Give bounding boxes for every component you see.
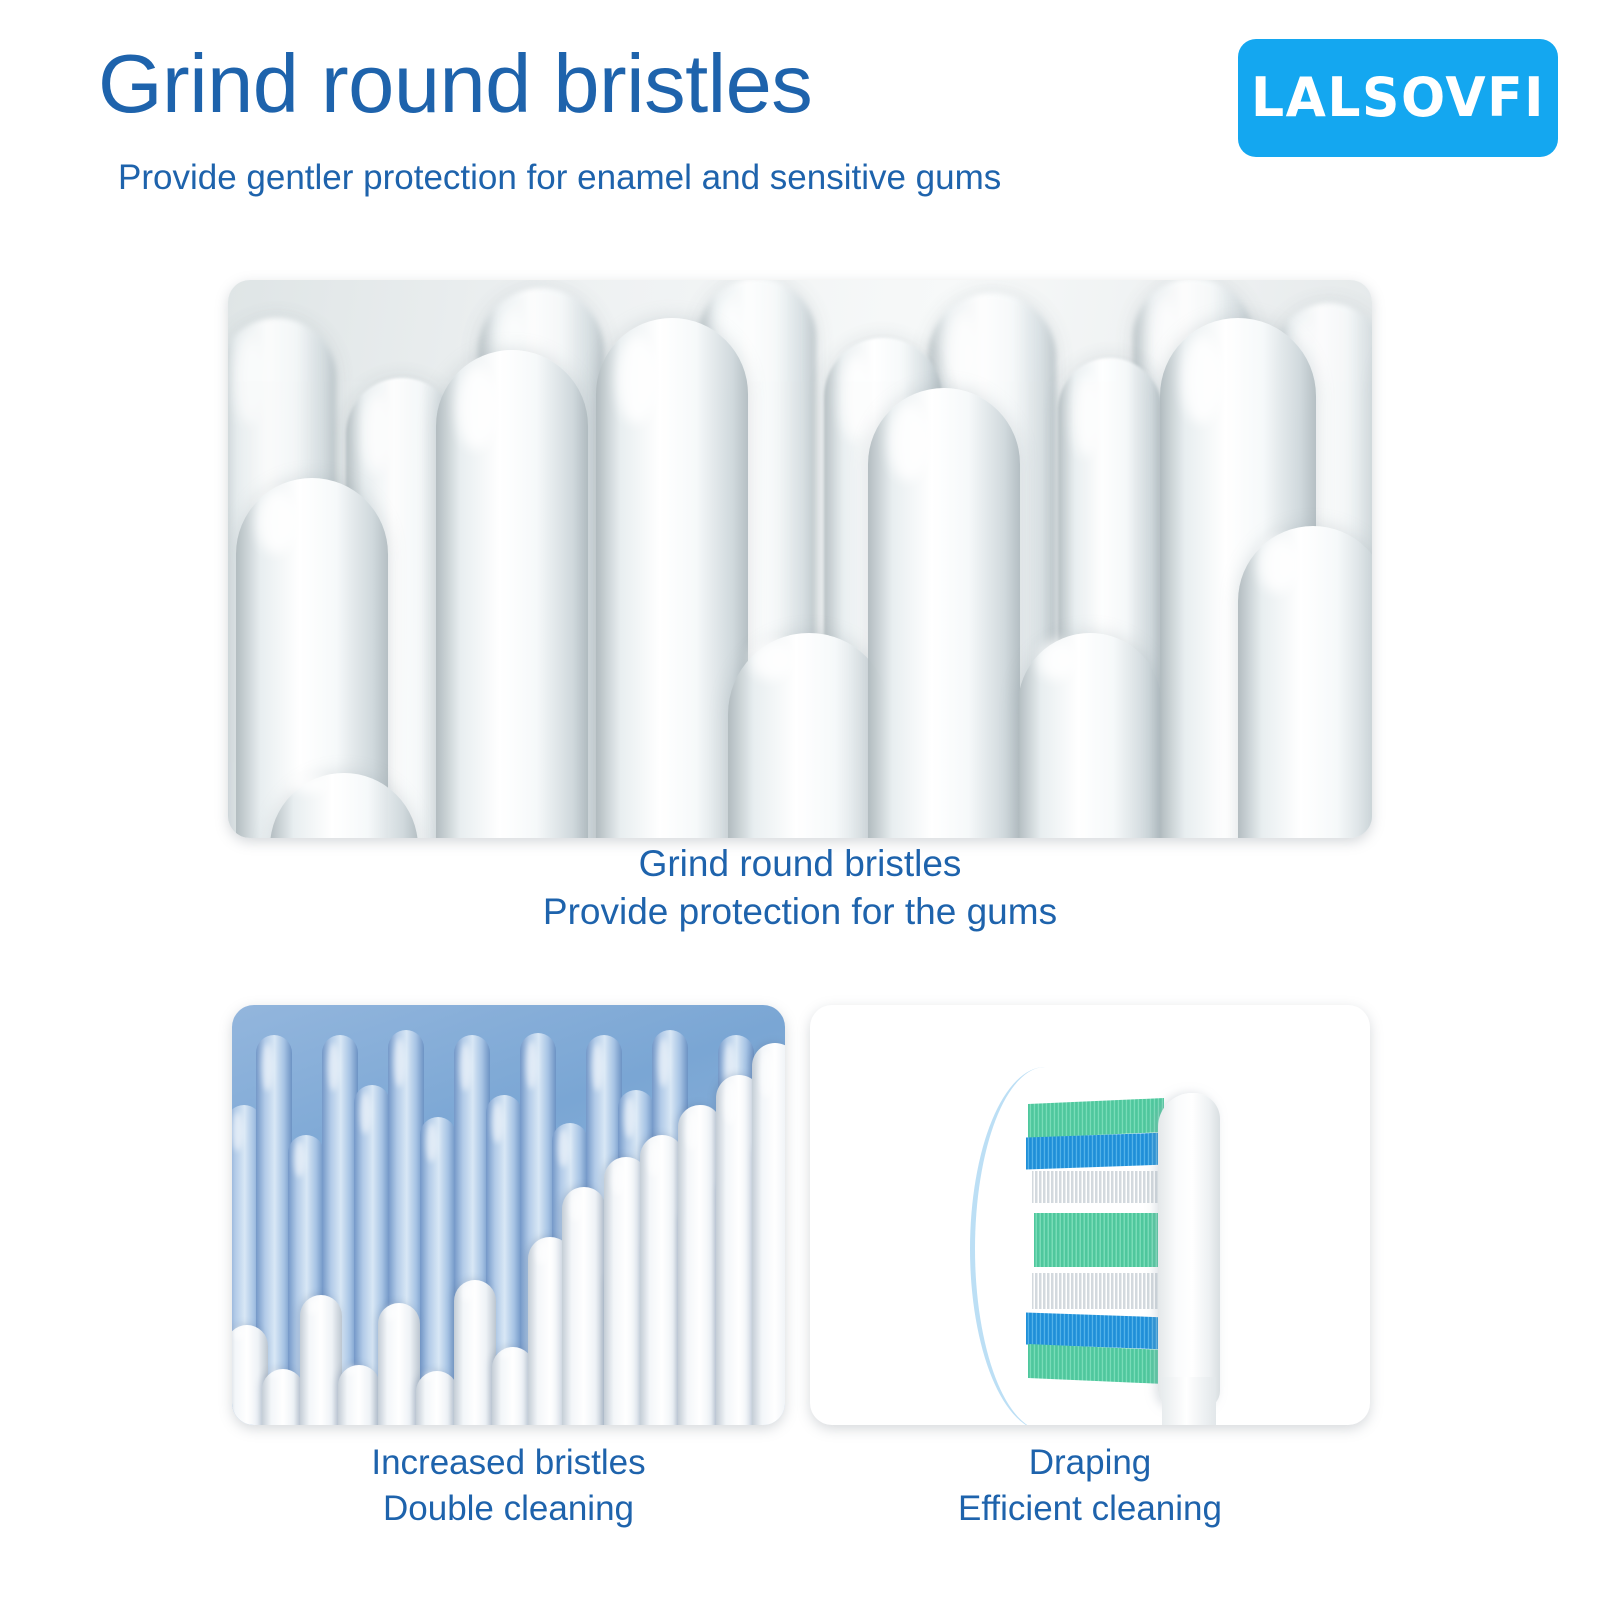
- bristle-tuft-green: [1034, 1213, 1166, 1267]
- draping-caption-line-2: Efficient cleaning: [810, 1486, 1370, 1532]
- bristle-white: [752, 1043, 785, 1425]
- increased-caption-line-2: Double cleaning: [232, 1486, 785, 1532]
- brush-head-body: [1158, 1093, 1220, 1409]
- hero-caption-line-1: Grind round bristles: [228, 840, 1372, 888]
- bristle-white: [300, 1295, 342, 1425]
- bristle-tip: [436, 350, 588, 838]
- hero-caption-line-2: Provide protection for the gums: [228, 888, 1372, 936]
- bristle-tuft-white: [1032, 1171, 1166, 1203]
- bristle-tuft-green: [1028, 1098, 1164, 1138]
- bristle-tip: [728, 633, 890, 838]
- white-bristle-field: [232, 1005, 785, 1425]
- hero-bristle-scene: [228, 280, 1372, 838]
- bristle-white: [338, 1365, 380, 1425]
- bristle-white: [378, 1303, 420, 1425]
- brush-head-scene: [810, 1005, 1370, 1425]
- bristle-tuft-white: [1032, 1273, 1166, 1309]
- draping-caption: Draping Efficient cleaning: [810, 1440, 1370, 1531]
- brand-logo-text: LALSOVFI: [1251, 71, 1545, 126]
- hero-bristle-photo: [228, 280, 1372, 838]
- page-title: Grind round bristles: [98, 42, 812, 125]
- brush-neck: [1162, 1377, 1216, 1425]
- bristle-white: [416, 1371, 458, 1425]
- page-header: Grind round bristles Provide gentler pro…: [0, 0, 1600, 240]
- draping-caption-line-1: Draping: [810, 1440, 1370, 1486]
- bristle-tuft-blue: [1026, 1133, 1166, 1170]
- brand-logo: LALSOVFI: [1238, 39, 1558, 157]
- bristle-tip: [1238, 526, 1372, 838]
- draping-brush-photo: [810, 1005, 1370, 1425]
- bristle-tip: [1018, 633, 1162, 838]
- increased-bristles-photo: [232, 1005, 785, 1425]
- bristle-tuft-green: [1028, 1344, 1164, 1384]
- bristle-white: [262, 1369, 304, 1425]
- hero-caption: Grind round bristles Provide protection …: [228, 840, 1372, 936]
- bristle-tip: [596, 318, 748, 838]
- increased-caption-line-1: Increased bristles: [232, 1440, 785, 1486]
- bristle-white: [454, 1280, 496, 1425]
- bristle-white: [562, 1187, 606, 1425]
- increased-caption: Increased bristles Double cleaning: [232, 1440, 785, 1531]
- bristle-tip: [868, 388, 1020, 838]
- page-subtitle: Provide gentler protection for enamel an…: [118, 160, 1001, 195]
